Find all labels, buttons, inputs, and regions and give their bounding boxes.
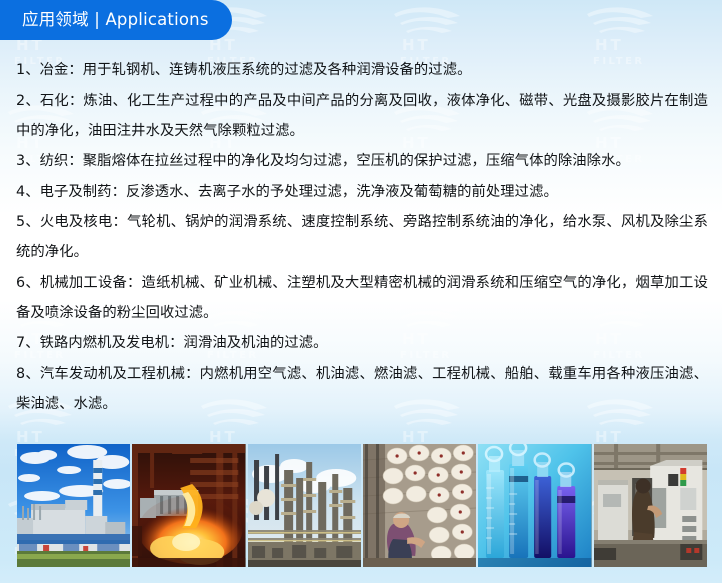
- application-item-5: 5、火电及核电：气轮机、锅炉的润滑系统、速度控制系统、旁路控制系统油的净化，给水…: [16, 207, 708, 267]
- application-item-7: 7、铁路内燃机及发电机：润滑油及机油的过滤。: [16, 328, 708, 358]
- petrochemical-photo: [248, 444, 361, 567]
- application-photo-strip: [17, 444, 707, 567]
- application-item-8: 8、汽车发动机及工程机械：内燃机用空气滤、机油滤、燃油滤、工程机械、船舶、载重车…: [16, 359, 708, 419]
- section-header-tab: 应用领域 | Applications: [0, 0, 232, 40]
- page-title: 应用领域 | Applications: [22, 12, 209, 29]
- steel-mill-photo: [132, 444, 245, 567]
- applications-list: 1、冶金：用于轧钢机、连铸机液压系统的过滤及各种润滑设备的过滤。 2、石化：炼油…: [16, 55, 708, 419]
- application-item-6: 6、机械加工设备：造纸机械、矿业机械、注塑机及大型精密机械的润滑系统和压缩空气的…: [16, 268, 708, 328]
- textile-mill-photo: [363, 444, 476, 567]
- application-item-1: 1、冶金：用于轧钢机、连铸机液压系统的过滤及各种润滑设备的过滤。: [16, 55, 708, 85]
- laboratory-glass-photo: [478, 444, 591, 567]
- application-item-4: 4、电子及制药：反渗透水、去离子水的予处理过滤，洗净液及葡萄糖的前处理过滤。: [16, 177, 708, 207]
- application-item-3: 3、纺织：聚脂熔体在拉丝过程中的净化及均匀过滤，空压机的保护过滤，压缩气体的除油…: [16, 146, 708, 176]
- applications-page: HT FILTER 应用领域 | Applications 1、冶金：用于轧钢机…: [0, 0, 722, 583]
- application-item-2: 2、石化：炼油、化工生产过程中的产品及中间产品的分离及回收，液体净化、磁带、光盘…: [16, 86, 708, 146]
- cnc-workshop-photo: [594, 444, 707, 567]
- power-plant-photo: [17, 444, 130, 567]
